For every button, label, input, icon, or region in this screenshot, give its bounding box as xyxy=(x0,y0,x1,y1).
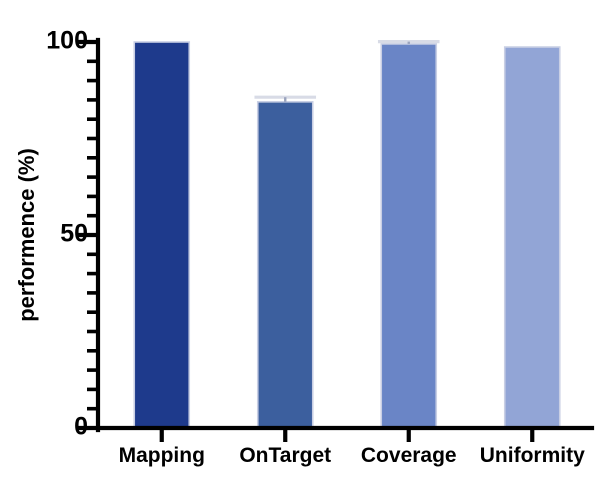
bar-chart-figure: 100 50 0 performence (%) Mapping OnTarge… xyxy=(0,0,600,500)
bar-coverage xyxy=(381,44,436,428)
bar-mapping xyxy=(134,42,189,428)
x-tick-label-ontarget: OnTarget xyxy=(239,444,331,467)
y-tick-label-0: 0 xyxy=(74,413,88,441)
y-axis-title: performence (%) xyxy=(14,148,39,322)
chart-canvas: 100 50 0 performence (%) Mapping OnTarge… xyxy=(0,0,600,500)
y-tick-label-100: 100 xyxy=(46,27,88,55)
x-tick-label-mapping: Mapping xyxy=(119,444,205,467)
x-tick-label-uniformity: Uniformity xyxy=(480,444,585,467)
x-tick-label-coverage: Coverage xyxy=(361,444,457,467)
bar-uniformity xyxy=(505,47,560,428)
y-tick-label-50: 50 xyxy=(60,220,88,248)
bar-ontarget xyxy=(258,102,313,428)
